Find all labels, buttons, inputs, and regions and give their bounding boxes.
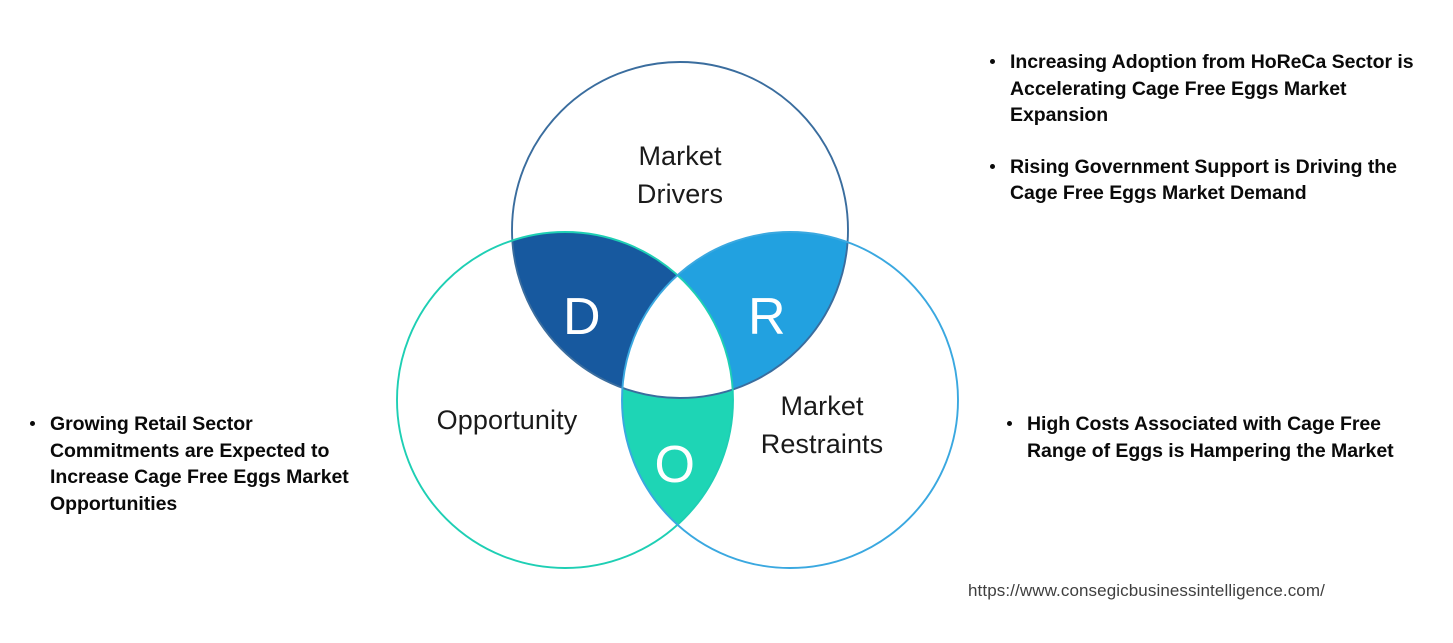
venn-svg: Market Drivers Opportunity Market Restra… bbox=[330, 20, 1030, 620]
callout-market-restraints: High Costs Associated with Cage Free Ran… bbox=[1003, 411, 1439, 464]
lens-letter-o: O bbox=[655, 436, 696, 494]
list-item-text: High Costs Associated with Cage Free Ran… bbox=[1027, 413, 1394, 462]
circle-label-drivers-line1: Market bbox=[638, 141, 722, 171]
venn-diagram: Market Drivers Opportunity Market Restra… bbox=[330, 20, 1030, 620]
callout-opportunity-list: Growing Retail Sector Commitments are Ex… bbox=[26, 411, 356, 517]
callout-opportunity: Growing Retail Sector Commitments are Ex… bbox=[26, 411, 356, 517]
list-item: Growing Retail Sector Commitments are Ex… bbox=[26, 411, 356, 517]
callout-restraints-list: High Costs Associated with Cage Free Ran… bbox=[1003, 411, 1439, 464]
bullet-dot-icon bbox=[990, 59, 995, 64]
list-item: Rising Government Support is Driving the… bbox=[986, 154, 1438, 207]
list-item-text: Increasing Adoption from HoReCa Sector i… bbox=[1010, 51, 1414, 126]
circle-label-restraints-line2: Restraints bbox=[761, 429, 884, 459]
callout-market-drivers: Increasing Adoption from HoReCa Sector i… bbox=[986, 49, 1438, 207]
circle-label-opportunity: Opportunity bbox=[437, 405, 578, 435]
source-url[interactable]: https://www.consegicbusinessintelligence… bbox=[968, 580, 1325, 602]
lens-letter-d: D bbox=[563, 288, 601, 346]
list-item-text: Rising Government Support is Driving the… bbox=[1010, 156, 1397, 205]
list-item-text: Growing Retail Sector Commitments are Ex… bbox=[50, 413, 349, 515]
bullet-dot-icon bbox=[30, 421, 35, 426]
list-item: Increasing Adoption from HoReCa Sector i… bbox=[986, 49, 1438, 129]
bullet-dot-icon bbox=[1007, 421, 1012, 426]
lens-letter-r: R bbox=[748, 288, 786, 346]
callout-drivers-list: Increasing Adoption from HoReCa Sector i… bbox=[986, 49, 1438, 207]
bullet-dot-icon bbox=[990, 164, 995, 169]
circle-label-restraints-line1: Market bbox=[780, 391, 864, 421]
list-item: High Costs Associated with Cage Free Ran… bbox=[1003, 411, 1439, 464]
infographic-canvas: Market Drivers Opportunity Market Restra… bbox=[0, 0, 1453, 643]
circle-label-drivers-line2: Drivers bbox=[637, 179, 723, 209]
